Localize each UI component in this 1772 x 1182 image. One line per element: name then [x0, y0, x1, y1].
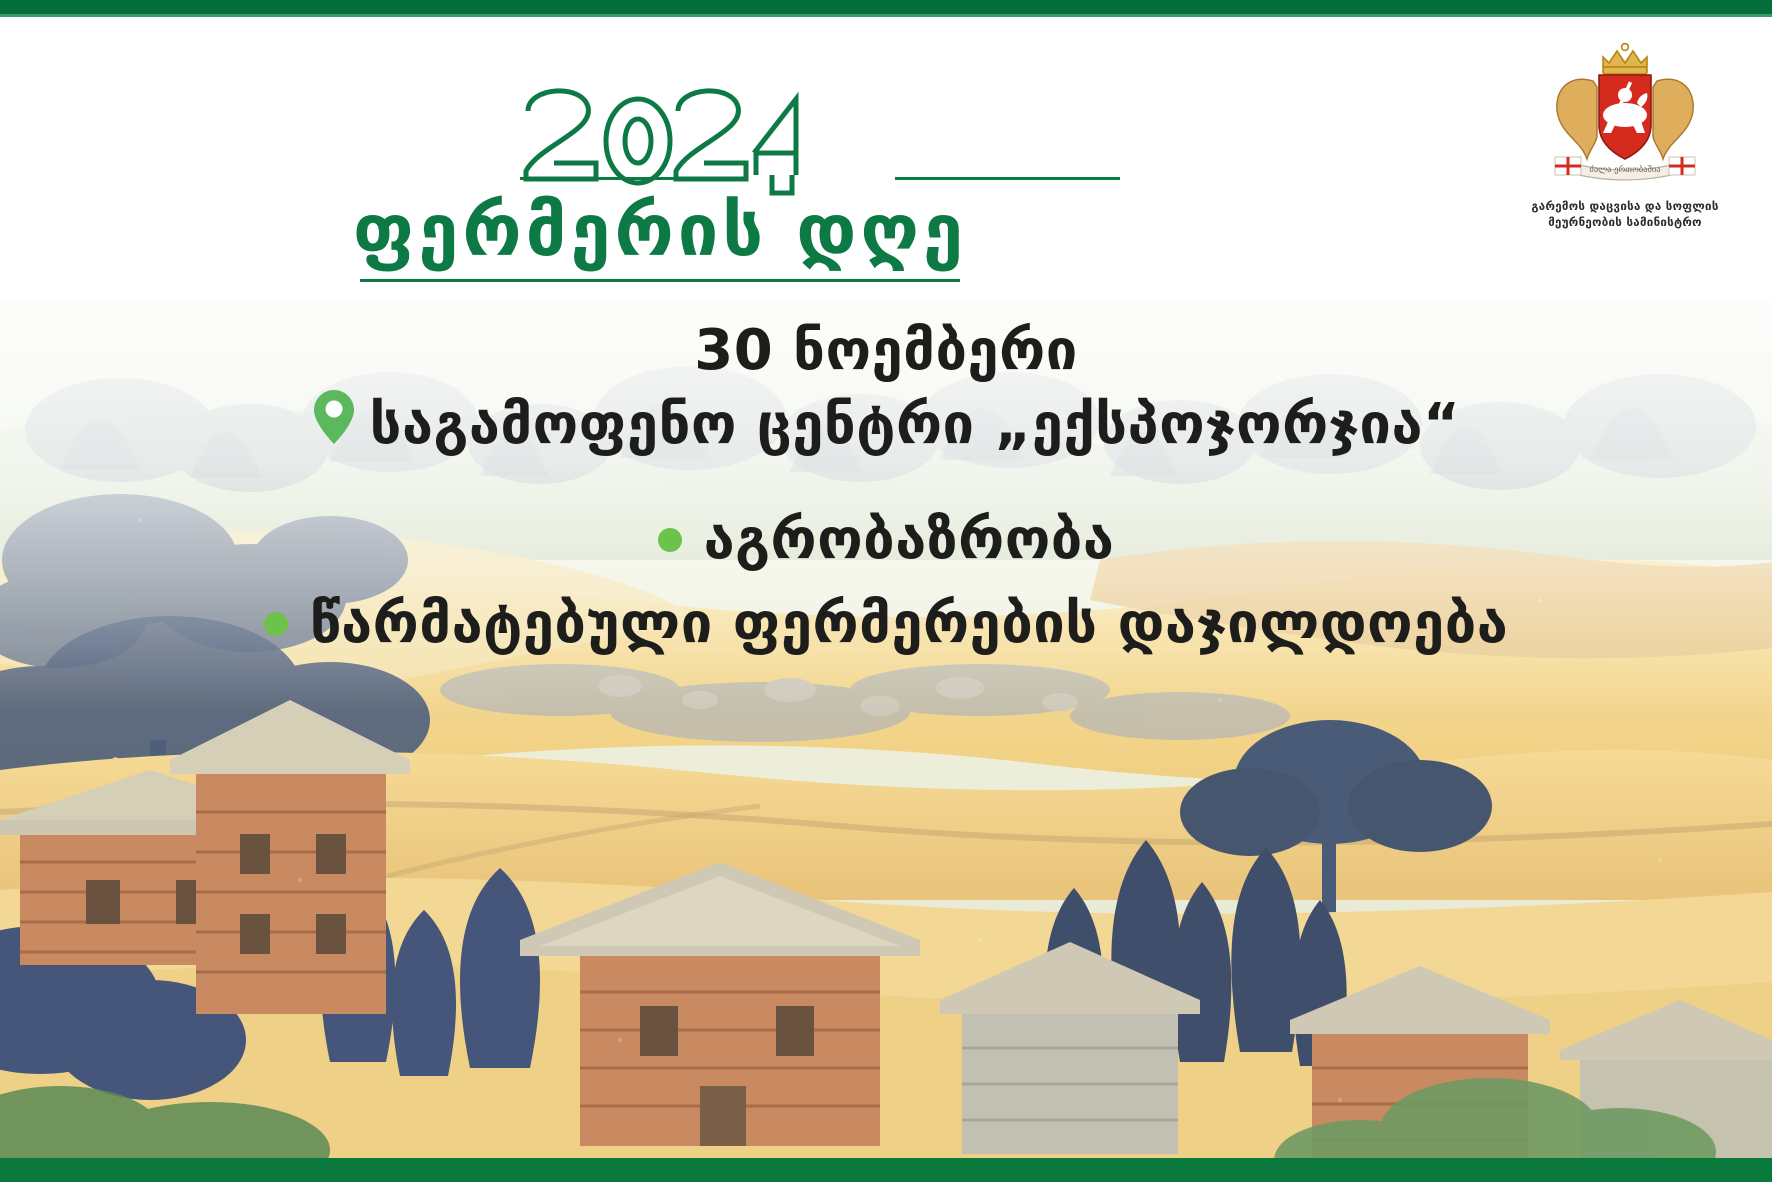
bullet-dot-icon: [658, 528, 682, 552]
page-title: ფერმერის დღე: [0, 193, 1320, 269]
bullet-dot-icon: [264, 612, 288, 636]
ministry-caption-line1: გარემოს დაცვისა და სოფლის: [1500, 199, 1750, 215]
header-band: ფერმერის დღე: [0, 17, 1772, 300]
bottom-green-bar: [0, 1158, 1772, 1182]
location-pin-icon: [312, 388, 356, 461]
list-item: წარმატებული ფერმერების დაჯილდოება: [0, 589, 1772, 659]
list-item: აგრობაზრობა: [0, 505, 1772, 575]
bullet-label: აგრობაზრობა: [704, 505, 1115, 575]
ministry-caption-line2: მეურნეობის სამინისტრო: [1500, 215, 1750, 231]
event-logo-lockup: ფერმერის დღე: [0, 77, 1320, 282]
year-row: [0, 77, 1320, 197]
ministry-block: ძალა ერთობაშია გარემოს დაცვისა და სოფლის…: [1500, 41, 1750, 230]
top-green-bar: [0, 0, 1772, 14]
bullet-label: წარმატებული ფერმერების დაჯილდოება: [310, 589, 1509, 659]
event-venue-label: საგამოფენო ცენტრი „ექსპოჯორჯია“: [370, 392, 1461, 458]
georgia-coat-of-arms-icon: ძალა ერთობაშია: [1541, 41, 1709, 191]
poster-root: ფერმერის დღე: [0, 0, 1772, 1182]
top-green-bar-accent: [0, 14, 1772, 17]
rule-right: [895, 177, 1120, 180]
title-underline: [360, 279, 960, 282]
ministry-caption: გარემოს დაცვისა და სოფლის მეურნეობის სამ…: [1500, 199, 1750, 230]
rule-left: [520, 177, 730, 180]
year-2024-outline-logo: [510, 75, 810, 199]
event-date: 30 ნოემბერი: [0, 318, 1772, 384]
event-details: 30 ნოემბერი საგამოფენო ცენტრი „ექსპოჯორჯ…: [0, 318, 1772, 659]
event-venue-row: საგამოფენო ცენტრი „ექსპოჯორჯია“: [0, 388, 1772, 461]
event-bullets: აგრობაზრობა წარმატებული ფერმერების დაჯილ…: [0, 505, 1772, 659]
svg-text:ძალა ერთობაშია: ძალა ერთობაშია: [1589, 164, 1660, 175]
